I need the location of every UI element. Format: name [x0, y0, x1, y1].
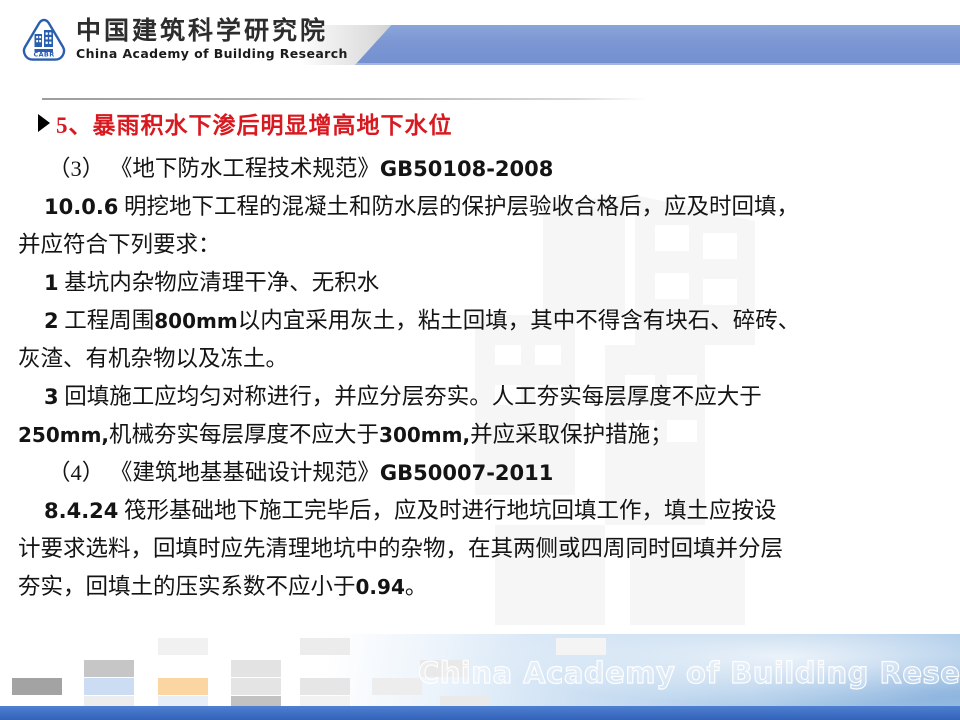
brand-logo: CABR 中国建筑科学研究院 China Academy of Building… — [20, 16, 348, 64]
mosaic-tile — [300, 638, 350, 655]
footer-brand-text: China Academy of Building Research — [418, 656, 960, 690]
org-name-cn: 中国建筑科学研究院 — [76, 19, 348, 44]
mosaic-tile — [158, 678, 208, 695]
body-line-clause-10-0-6: 10.0.6 明挖地下工程的混凝土和防水层的保护层验收合格后，应及时回填， — [18, 188, 948, 226]
body-line-item-2-cont: 灰渣、有机杂物以及冻土。 — [18, 340, 948, 378]
text-segment: 基坑内杂物应清理干净、无积水 — [59, 270, 380, 295]
body-line-item-3-cont: 250mm,机械夯实每层厚度不应大于300mm,并应采取保护措施； — [18, 416, 948, 454]
text-segment: 250mm, — [18, 423, 109, 447]
text-segment: 回填施工应均匀对称进行，并应分层夯实。人工夯实每层厚度不应大于 — [59, 384, 762, 409]
text-segment: 机械夯实每层厚度不应大于 — [109, 422, 379, 447]
text-segment: 300mm, — [379, 423, 470, 447]
text-segment: 3 — [44, 385, 59, 409]
text-segment: 。 — [405, 574, 428, 599]
text-segment: 灰渣、有机杂物以及冻土。 — [18, 346, 288, 371]
mosaic-tile — [372, 678, 422, 695]
slide-body: （3） 《地下防水工程技术规范》GB50108-200810.0.6 明挖地下工… — [18, 150, 948, 606]
body-line-item-1: 1 基坑内杂物应清理干净、无积水 — [18, 264, 948, 302]
mosaic-tile — [556, 638, 606, 655]
body-line-clause-10-0-6-cont: 并应符合下列要求： — [18, 226, 948, 264]
mosaic-tile — [158, 638, 208, 655]
footer-mosaic — [0, 634, 340, 710]
text-segment: 0.94 — [356, 575, 405, 599]
body-line-clause-8-4-24-cont2: 夯实，回填土的压实系数不应小于0.94。 — [18, 568, 948, 606]
text-segment: GB50108-2008 — [380, 157, 553, 181]
page-title-text: 5、暴雨积水下渗后明显增高地下水位 — [56, 106, 453, 140]
text-segment: 并应符合下列要求： — [18, 232, 221, 257]
cabr-triangle-logo-icon: CABR — [20, 16, 68, 64]
text-segment: 计要求选料，回填时应先清理地坑中的杂物，在其两侧或四周同时回填并分层 — [18, 536, 783, 561]
body-line-clause-8-4-24: 8.4.24 筏形基础地下施工完毕后，应及时进行地坑回填工作，填土应按设 — [18, 492, 948, 530]
title-divider — [42, 98, 647, 100]
body-line-item-2: 2 工程周围800mm以内宜采用灰土，粘土回填，其中不得含有块石、碎砖、 — [18, 302, 948, 340]
mosaic-tile — [300, 678, 350, 695]
text-segment: 8.4.24 — [44, 499, 118, 523]
text-segment: 10.0.6 — [44, 195, 118, 219]
mosaic-tile — [84, 678, 134, 695]
svg-text:CABR: CABR — [33, 50, 54, 58]
body-line-ref4: （4） 《建筑地基基础设计规范》GB50007-2011 — [18, 454, 948, 492]
text-segment: GB50007-2011 — [380, 461, 553, 485]
triangle-bullet-icon — [38, 114, 50, 132]
text-segment: 夯实，回填土的压实系数不应小于 — [18, 574, 356, 599]
mosaic-tile — [231, 678, 281, 695]
text-segment: 明挖地下工程的混凝土和防水层的保护层验收合格后，应及时回填， — [118, 194, 799, 219]
slide-canvas: CABR 中国建筑科学研究院 China Academy of Building… — [0, 0, 960, 720]
mosaic-tile — [12, 678, 62, 695]
mosaic-tile — [84, 660, 134, 677]
page-title: 5、暴雨积水下渗后明显增高地下水位 — [38, 106, 453, 140]
mosaic-tile — [231, 660, 281, 677]
body-line-clause-8-4-24-cont1: 计要求选料，回填时应先清理地坑中的杂物，在其两侧或四周同时回填并分层 — [18, 530, 948, 568]
text-segment: （4） 《建筑地基基础设计规范》 — [48, 460, 380, 485]
text-segment: 工程周围 — [59, 308, 155, 333]
text-segment: 并应采取保护措施； — [470, 422, 673, 447]
text-segment: （3） 《地下防水工程技术规范》 — [48, 156, 380, 181]
text-segment: 2 — [44, 309, 59, 333]
body-line-item-3: 3 回填施工应均匀对称进行，并应分层夯实。人工夯实每层厚度不应大于 — [18, 378, 948, 416]
text-segment: 800mm — [154, 309, 237, 333]
slide-header: CABR 中国建筑科学研究院 China Academy of Building… — [0, 0, 960, 86]
text-segment: 1 — [44, 271, 59, 295]
text-segment: 筏形基础地下施工完毕后，应及时进行地坑回填工作，填土应按设 — [118, 498, 776, 523]
header-blue-stripe — [355, 25, 960, 65]
slide-footer: China Academy of Building Research — [0, 634, 960, 720]
footer-accent-bar — [0, 706, 960, 720]
text-segment: 以内宜采用灰土，粘土回填，其中不得含有块石、碎砖、 — [238, 308, 801, 333]
org-name-en: China Academy of Building Research — [76, 48, 348, 61]
body-line-ref3: （3） 《地下防水工程技术规范》GB50108-2008 — [18, 150, 948, 188]
